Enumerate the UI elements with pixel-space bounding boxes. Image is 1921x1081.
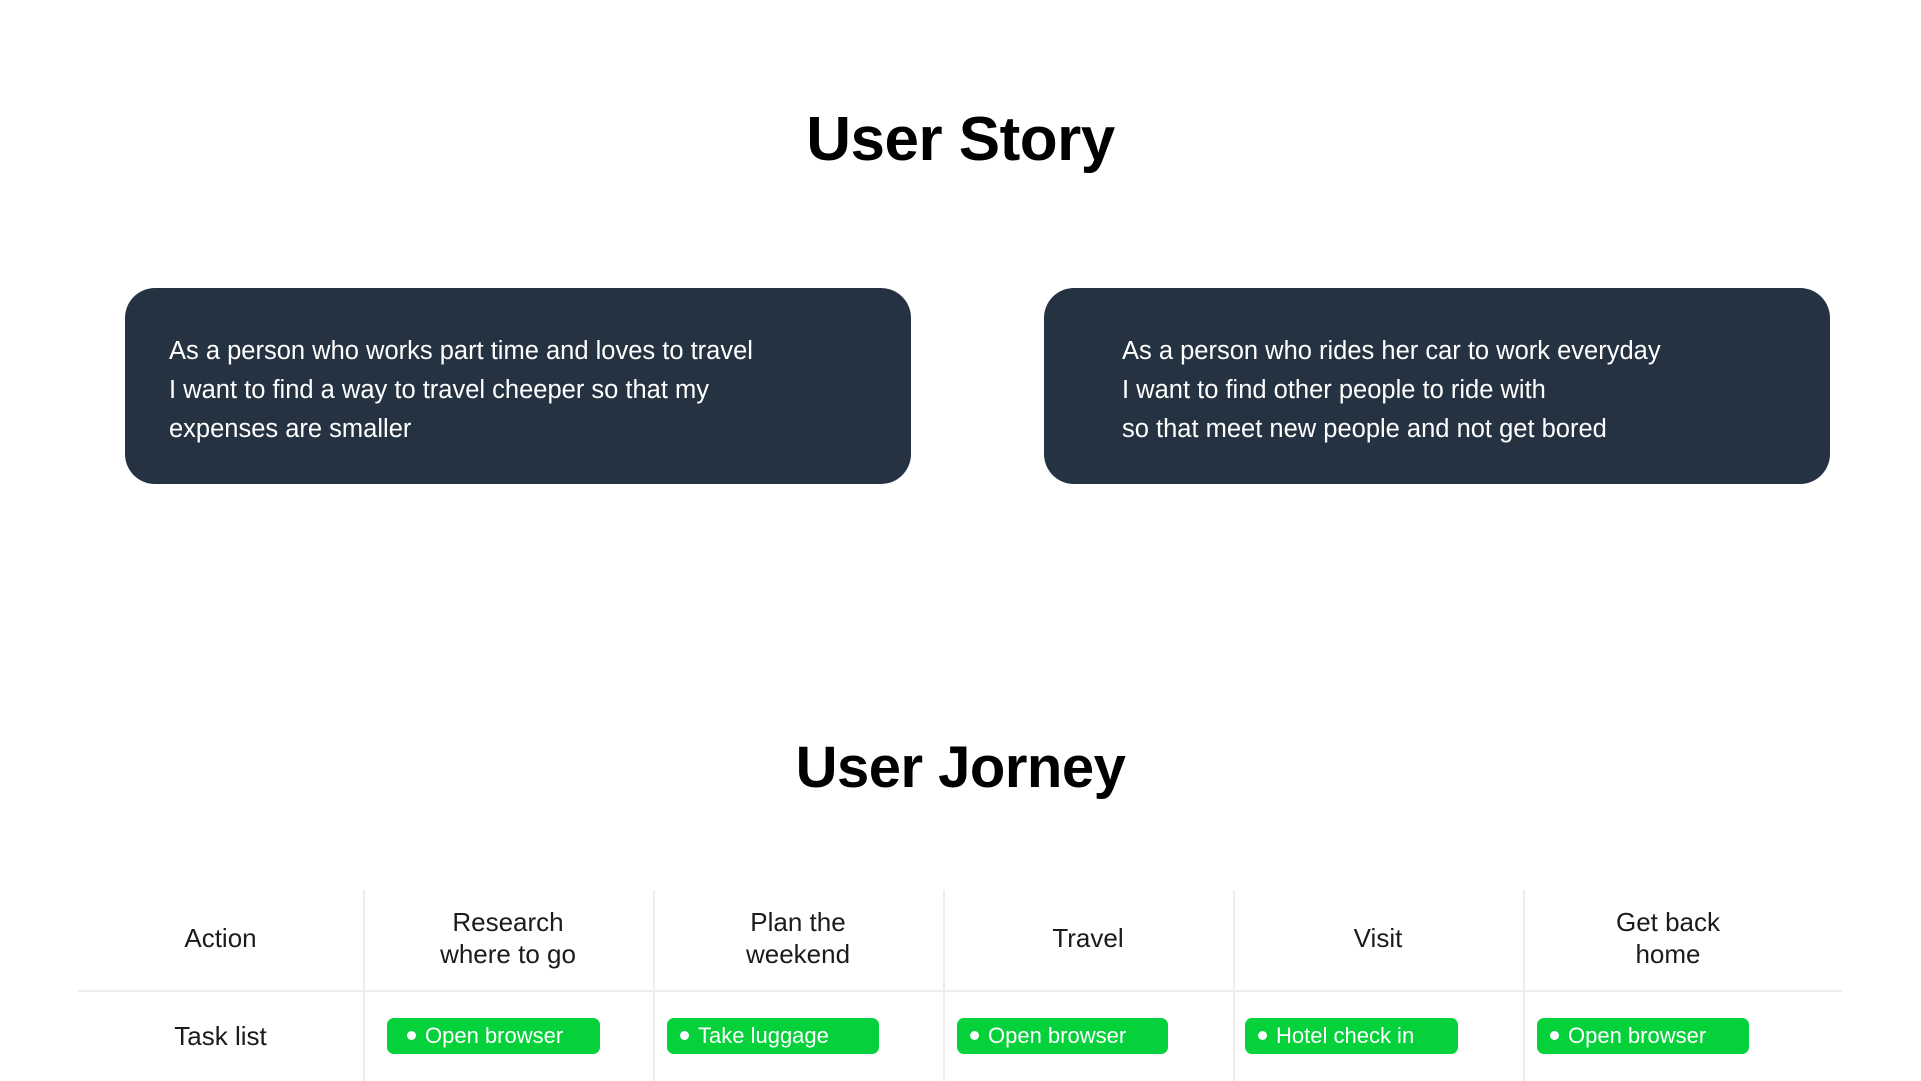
task-pill-label: Take luggage: [698, 1023, 829, 1049]
task-pill[interactable]: Hotel check in: [1245, 1018, 1458, 1054]
bullet-dot-icon: [970, 1031, 979, 1040]
column-header-text: Visit: [1354, 922, 1403, 954]
table-task-cell-get-back-home: Open browser: [1523, 990, 1813, 1081]
task-pill[interactable]: Open browser: [1537, 1018, 1749, 1054]
table-task-cell-plan: Take luggage: [653, 990, 943, 1081]
table-task-cell-travel: Open browser: [943, 990, 1233, 1081]
table-header-cell-research: Research where to go: [363, 886, 653, 990]
user-story-card: As a person who rides her car to work ev…: [1044, 288, 1830, 484]
task-pill-label: Open browser: [988, 1023, 1126, 1049]
column-header-text: Research where to go: [440, 906, 576, 970]
column-header-text: Get back home: [1616, 906, 1720, 970]
task-pill-label: Open browser: [425, 1023, 563, 1049]
table-task-cell-visit: Hotel check in: [1233, 990, 1523, 1081]
task-pill[interactable]: Open browser: [957, 1018, 1168, 1054]
table-header-cell-travel: Travel: [943, 886, 1233, 990]
bullet-dot-icon: [1258, 1031, 1267, 1040]
page-title-user-story: User Story: [0, 105, 1921, 175]
task-pill[interactable]: Take luggage: [667, 1018, 879, 1054]
table-row-label-task-list: Task list: [78, 990, 363, 1081]
task-pill[interactable]: Open browser: [387, 1018, 600, 1054]
table-task-cell-research: Open browser: [363, 990, 653, 1081]
table-header-cell-plan: Plan the weekend: [653, 886, 943, 990]
user-story-card-text: As a person who rides her car to work ev…: [1122, 332, 1790, 449]
row-label-text: Task list: [174, 1020, 266, 1052]
column-header-text: Travel: [1052, 922, 1123, 954]
task-pill-label: Open browser: [1568, 1023, 1706, 1049]
page-title-user-jorney: User Jorney: [0, 735, 1921, 801]
user-story-card-text: As a person who works part time and love…: [169, 332, 871, 449]
table-header-cell-get-back-home: Get back home: [1523, 886, 1813, 990]
table-header-cell-visit: Visit: [1233, 886, 1523, 990]
table-row-label-action: Action: [78, 886, 363, 990]
bullet-dot-icon: [407, 1031, 416, 1040]
row-label-text: Action: [184, 922, 256, 954]
bullet-dot-icon: [680, 1031, 689, 1040]
user-story-card: As a person who works part time and love…: [125, 288, 911, 484]
task-pill-label: Hotel check in: [1276, 1023, 1414, 1049]
bullet-dot-icon: [1550, 1031, 1559, 1040]
user-journey-table: Action Research where to go Plan the wee…: [78, 886, 1842, 1081]
column-header-text: Plan the weekend: [746, 906, 850, 970]
table-header-row: Action Research where to go Plan the wee…: [78, 886, 1842, 990]
table-task-row: Task list Open browser Take luggage Open…: [78, 990, 1842, 1081]
